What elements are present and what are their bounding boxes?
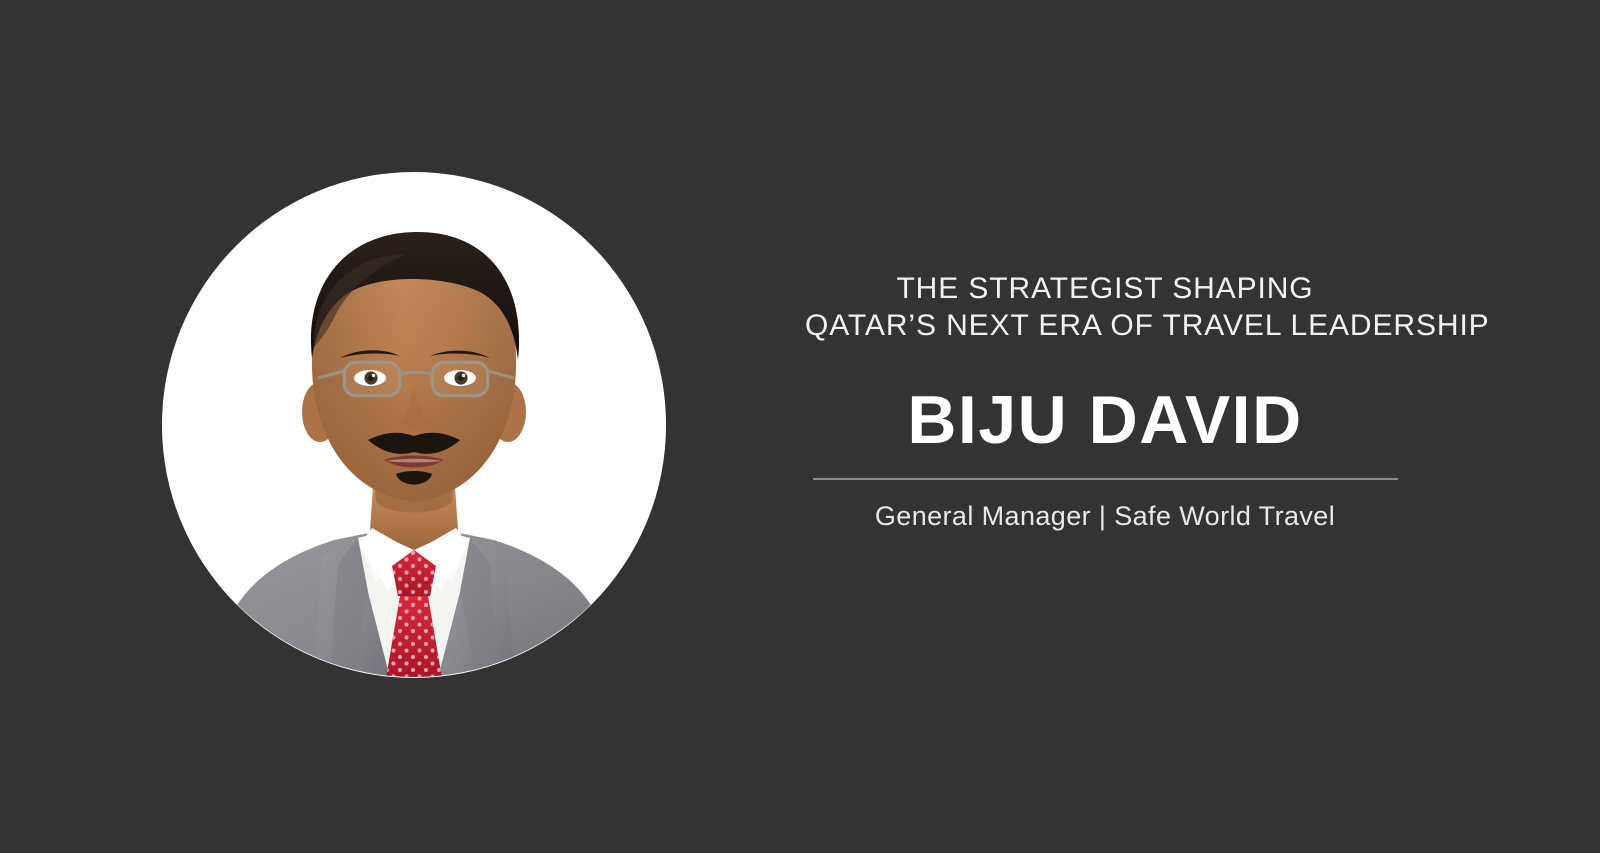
portrait-photo bbox=[162, 172, 666, 678]
headline-line-1: THE STRATEGIST SHAPING bbox=[805, 270, 1405, 307]
text-block: THE STRATEGIST SHAPING QATAR’S NEXT ERA … bbox=[805, 270, 1405, 533]
avatar bbox=[162, 172, 666, 678]
page-title: BIJU DAVID bbox=[805, 384, 1405, 456]
feature-card: THE STRATEGIST SHAPING QATAR’S NEXT ERA … bbox=[0, 0, 1600, 853]
role-and-company: General Manager | Safe World Travel bbox=[805, 499, 1405, 533]
headline: THE STRATEGIST SHAPING QATAR’S NEXT ERA … bbox=[805, 270, 1405, 344]
divider bbox=[813, 478, 1398, 480]
headline-line-2: QATAR’S NEXT ERA OF TRAVEL LEADERSHIP bbox=[805, 307, 1405, 344]
